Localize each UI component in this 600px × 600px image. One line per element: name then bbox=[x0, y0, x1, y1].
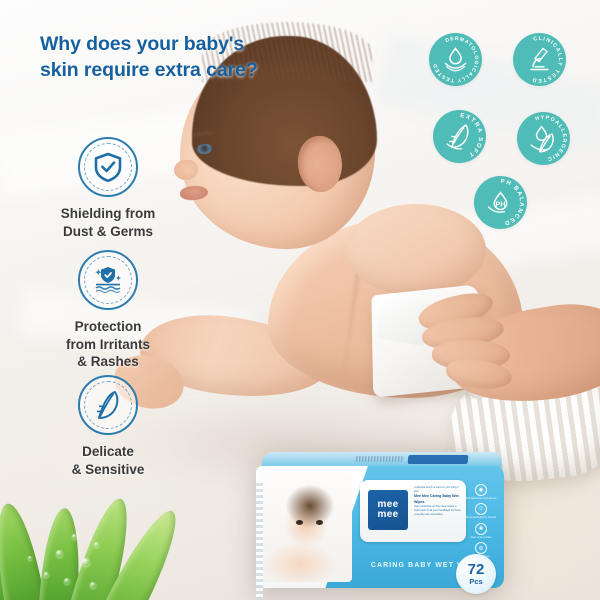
pack-count-unit: Pcs bbox=[469, 577, 482, 586]
dermatologically-tested-icon: ☺ bbox=[475, 503, 487, 515]
brand-logo: mee mee bbox=[368, 490, 408, 530]
pack-label-copy: A delicate touch of care for your baby's… bbox=[414, 486, 462, 538]
pack-lid: mee mee A delicate touch of care for you… bbox=[360, 480, 466, 542]
aloe-vera-decoration bbox=[0, 486, 174, 600]
pack-copy-pre: A delicate touch of care for your baby's… bbox=[414, 486, 459, 493]
pack-icon-aloe-vera: ❀ Aloe vera extract bbox=[460, 523, 502, 539]
promo-banner: Why does your baby's skin require extra … bbox=[0, 0, 600, 600]
page-title: Why does your baby's skin require extra … bbox=[40, 32, 280, 84]
svg-text:DERMATOLOGICALLY TESTED: DERMATOLOGICALLY TESTED bbox=[432, 36, 479, 83]
feature-protection: Protection from Irritants & Rashes bbox=[38, 250, 178, 371]
badge-arc-text: DERMATOLOGICALLY TESTED bbox=[432, 36, 479, 83]
badge-dermatologically-tested: DERMATOLOGICALLY TESTED bbox=[429, 33, 482, 86]
pack-feature-icons: ✺ Anti Bacterial Ingredients ☺ Dermatolo… bbox=[460, 484, 502, 562]
pack-copy-bold: Mee Mee Caring Baby Wet Wipes bbox=[414, 494, 462, 505]
badge-ph-balanced: PH BALANCED PH bbox=[474, 176, 527, 229]
pack-count-badge: 72 Pcs bbox=[456, 554, 496, 594]
leaf-icon bbox=[450, 125, 468, 147]
pack-icon-caption: Dermatologically Tested bbox=[460, 516, 502, 519]
feature-delicate: Delicate & Sensitive bbox=[38, 375, 178, 478]
pack-icon-caption: Anti Bacterial Ingredients bbox=[460, 497, 502, 500]
brand-logo-line-2: mee bbox=[378, 510, 399, 521]
pack-body: mee mee A delicate touch of care for you… bbox=[256, 466, 504, 588]
svg-text:EXTRA SOFT: EXTRA SOFT bbox=[460, 113, 483, 158]
microscope-icon bbox=[531, 49, 548, 70]
shield-water-rash-icon bbox=[78, 250, 138, 310]
feature-label: Shielding from Dust & Germs bbox=[38, 205, 178, 240]
pack-side-seal bbox=[256, 480, 263, 600]
feature-label: Protection from Irritants & Rashes bbox=[38, 318, 178, 371]
anti-bacterial-icon: ✺ bbox=[475, 484, 487, 496]
feature-label: Delicate & Sensitive bbox=[38, 443, 178, 478]
pack-icon-caption: Aloe vera extract bbox=[460, 536, 502, 539]
pack-copy-post: help moisturise so they clean Keep a fre… bbox=[414, 505, 461, 516]
ph-droplet-icon: PH bbox=[494, 193, 506, 210]
droplet-on-hand-icon bbox=[446, 49, 466, 71]
feature-shielding: Shielding from Dust & Germs bbox=[38, 137, 178, 240]
product-pack: mee mee A delicate touch of care for you… bbox=[256, 452, 506, 600]
aloe-vera-icon: ❀ bbox=[475, 523, 487, 535]
pack-count-number: 72 bbox=[468, 562, 485, 577]
feather-icon bbox=[78, 375, 138, 435]
ph-inner-label: PH bbox=[496, 200, 506, 209]
pack-icon-dermatologically-tested: ☺ Dermatologically Tested bbox=[460, 503, 502, 519]
svg-text:HYPOALLERGENIC: HYPOALLERGENIC bbox=[535, 115, 567, 162]
badge-arc-text: HYPOALLERGENIC bbox=[535, 115, 567, 162]
pack-icon-anti-bacterial: ✺ Anti Bacterial Ingredients bbox=[460, 484, 502, 500]
badge-clinically-tested: CLINICALLY TESTED bbox=[513, 33, 566, 86]
badge-hypoallergenic: HYPOALLERGENIC bbox=[517, 112, 570, 165]
badge-extra-soft: EXTRA SOFT bbox=[433, 110, 486, 163]
droplet-leaf-icon bbox=[537, 127, 554, 152]
badge-arc-text: EXTRA SOFT bbox=[460, 113, 483, 158]
pack-baby-photo bbox=[260, 472, 352, 582]
pack-top-tab bbox=[408, 455, 469, 464]
shield-check-icon bbox=[78, 137, 138, 197]
paraben-free-icon: ⊘ bbox=[475, 542, 487, 554]
pack-barcode bbox=[356, 456, 405, 462]
